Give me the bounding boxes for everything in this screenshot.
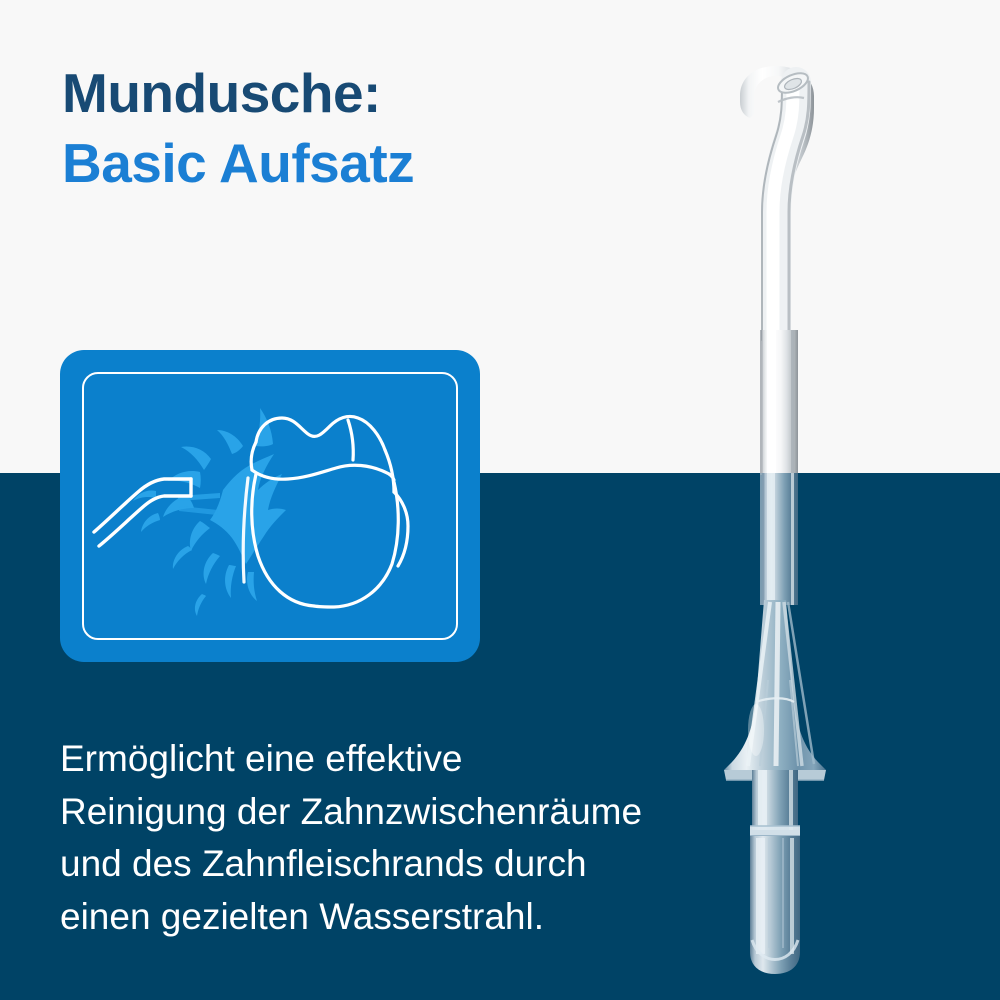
nozzle-tip-icon (94, 479, 191, 546)
description-line-4: einen gezielten Wasserstrahl. (60, 891, 760, 944)
nozzle-connector-stem (750, 770, 800, 974)
water-splash-icon (133, 408, 286, 616)
nozzle-tip-section (740, 66, 814, 340)
product-infographic: Mundusche: Basic Aufsatz (0, 0, 1000, 1000)
headline: Mundusche: Basic Aufsatz (62, 58, 682, 199)
nozzle-cone-base (724, 600, 826, 780)
nozzle-shaft-lower (760, 473, 798, 605)
feature-icon-card (60, 350, 480, 662)
description-line-3: und des Zahnfleischrands durch (60, 838, 760, 891)
product-nozzle-image (690, 40, 920, 1000)
feature-description: Ermöglicht eine effektive Reinigung der … (60, 733, 760, 943)
nozzle-shaft-upper (760, 330, 798, 475)
headline-line-1: Mundusche: (62, 58, 682, 128)
description-line-1: Ermöglicht eine effektive (60, 733, 760, 786)
connector-ridge (750, 826, 800, 836)
water-jet-cleaning-tooth-icon (60, 350, 480, 662)
headline-line-2: Basic Aufsatz (62, 128, 682, 198)
description-line-2: Reinigung der Zahnzwischenräume (60, 786, 760, 839)
